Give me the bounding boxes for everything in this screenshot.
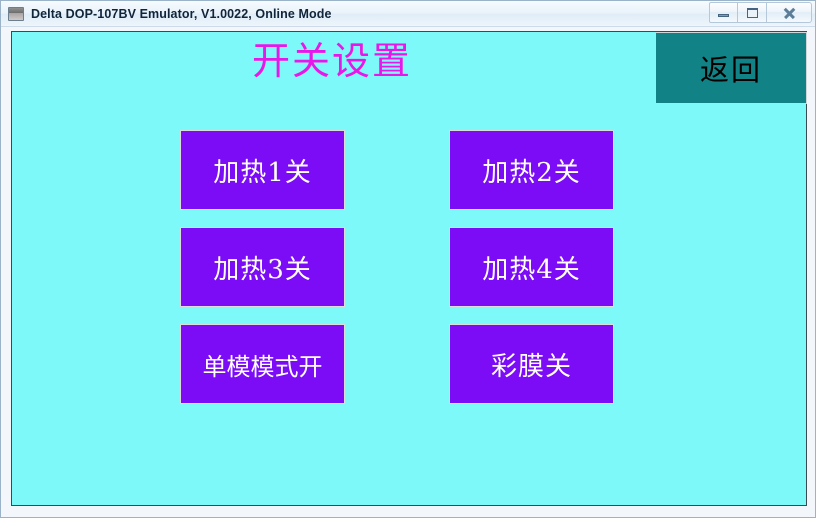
window-title: Delta DOP-107BV Emulator, V1.0022, Onlin… [31, 7, 815, 21]
switch-button-grid: 加热1关 加热2关 加热3关 加热4关 单模模式开 彩膜关 [180, 130, 648, 404]
switch-button-heat4[interactable]: 加热4关 [449, 227, 614, 307]
switch-button-label: 加热2关 [482, 152, 581, 189]
monitor-icon [8, 7, 24, 21]
page-title: 开关设置 [12, 37, 652, 85]
switch-button-heat3[interactable]: 加热3关 [180, 227, 345, 307]
title-bar[interactable]: Delta DOP-107BV Emulator, V1.0022, Onlin… [1, 1, 815, 27]
minimize-button[interactable] [709, 2, 738, 23]
switch-button-single-mode[interactable]: 单模模式开 [180, 324, 345, 404]
minimize-icon [718, 14, 729, 17]
maximize-icon [747, 8, 758, 18]
switch-button-label: 加热1关 [213, 152, 312, 189]
return-button[interactable]: 返回 [655, 32, 807, 104]
hmi-screen: 开关设置 返回 加热1关 加热2关 加热3关 加热4关 单模模式开 彩膜关 [11, 31, 807, 506]
maximize-button[interactable] [738, 2, 767, 23]
switch-button-label: 加热3关 [213, 249, 312, 286]
switch-button-heat1[interactable]: 加热1关 [180, 130, 345, 210]
close-button[interactable] [767, 2, 812, 23]
window-controls [709, 2, 812, 23]
switch-button-label: 加热4关 [482, 249, 581, 286]
switch-button-heat2[interactable]: 加热2关 [449, 130, 614, 210]
emulator-window: Delta DOP-107BV Emulator, V1.0022, Onlin… [0, 0, 816, 518]
close-icon [783, 7, 796, 19]
switch-button-color-film[interactable]: 彩膜关 [449, 324, 614, 404]
switch-button-label: 彩膜关 [491, 346, 572, 383]
switch-button-label: 单模模式开 [203, 347, 323, 382]
return-button-label: 返回 [700, 47, 762, 89]
